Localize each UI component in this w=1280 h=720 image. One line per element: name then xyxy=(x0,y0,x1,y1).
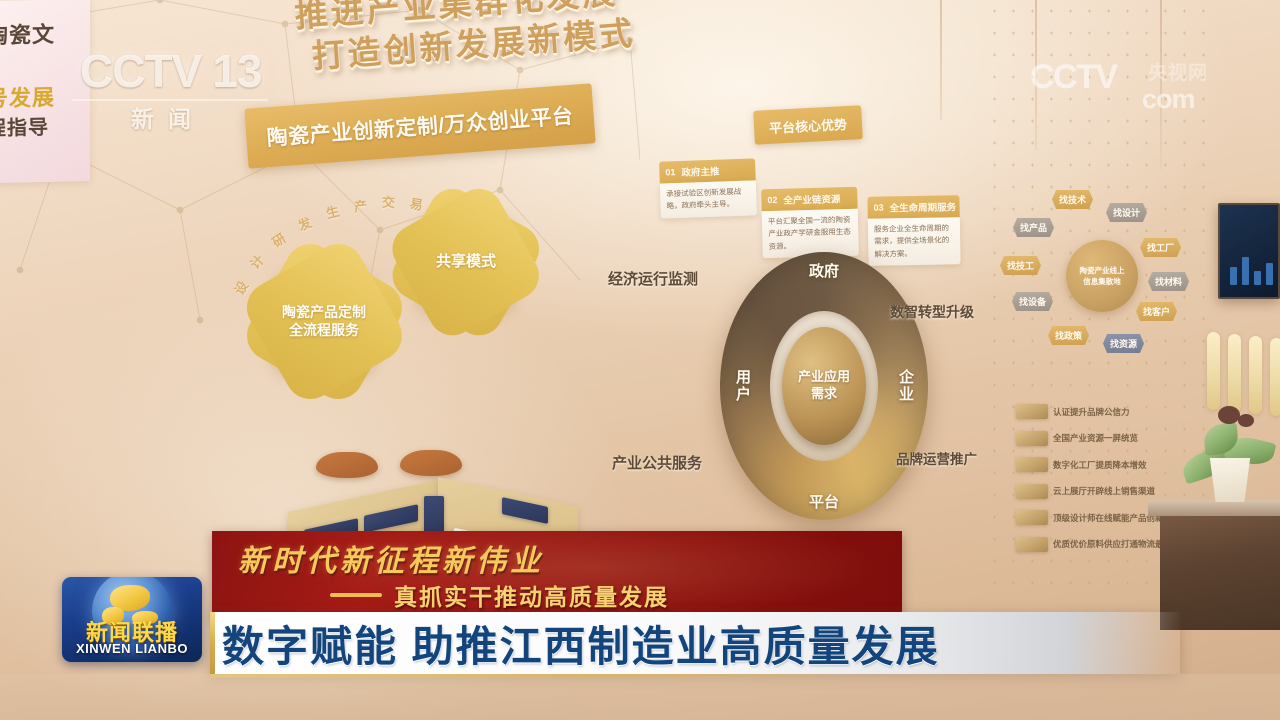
wall-seam xyxy=(940,0,942,120)
series-subtitle: 真抓实干推动高质量发展 xyxy=(394,578,669,612)
benefit-label: 数字化工厂提质降本增效 xyxy=(1053,459,1147,471)
advantage-card-1-body: 承接试验区创新发展战略，政府牵头主导。 xyxy=(660,180,757,218)
benefit-list-item: 认证提升品牌公信力 xyxy=(1016,404,1216,419)
gear-label-1: 陶瓷产品定制全流程服务 xyxy=(282,303,366,339)
wall-headline-banner-label: 陶瓷产业创新定制/万众创业平台 xyxy=(266,100,575,152)
ring-outer-label-digital-transformation: 数智转型升级 xyxy=(890,302,974,322)
wall-light-strip xyxy=(1270,338,1280,416)
advantage-card-3-label: 全生命周期服务 xyxy=(889,199,956,214)
monitor-chart-bar xyxy=(1242,257,1249,285)
series-title: 新时代新征程新伟业 xyxy=(238,536,538,576)
channel-number: 13 xyxy=(212,48,261,94)
advantage-card-1-label: 政府主推 xyxy=(681,164,719,179)
watermark-cctv: CCTV xyxy=(1030,60,1117,94)
advantage-card-1: 01 政府主推 承接试验区创新发展战略，政府牵头主导。 xyxy=(659,158,757,218)
cctv13-channel-logo: CCTV 13 新闻 xyxy=(80,47,256,135)
watermark-cn: 央视网 xyxy=(1148,58,1208,85)
gear-ceramic-customization: 陶瓷产品定制全流程服务 xyxy=(258,255,390,387)
benefit-label: 顶级设计师在线赋能产品创新 xyxy=(1053,512,1164,524)
wall-light-strip xyxy=(1249,336,1262,414)
benefit-chip-icon xyxy=(1016,457,1048,472)
benefit-chip-icon xyxy=(1016,510,1048,525)
xinwen-lianbo-logo: 新闻联播 XINWEN LIANBO xyxy=(62,577,202,662)
advantage-card-2: 02 全产业链资源 平台汇聚全国一流的陶瓷产业政产学研金服用生态资源。 xyxy=(761,187,859,259)
wall-light-strip xyxy=(1207,332,1220,410)
subtitle-dash-rule xyxy=(330,593,382,597)
monitor-chart-bar xyxy=(1266,263,1273,285)
gear-sharing-model: 共享模式 xyxy=(404,200,528,324)
headline-bar-gold-edge xyxy=(210,612,215,674)
benefit-chip-icon xyxy=(1016,431,1048,446)
hex-tag-find-customer: 找客户 xyxy=(1136,302,1177,321)
ring-outer-label-public-service: 产业公共服务 xyxy=(612,452,702,473)
ring-label-platform: 平台 xyxy=(809,491,839,512)
ring-label-government: 政府 xyxy=(809,260,839,281)
cloud-shape-icon xyxy=(316,452,378,478)
poster-line-3: 程指导 xyxy=(0,116,90,141)
advantage-card-2-label: 全产业链资源 xyxy=(783,191,840,206)
hex-tag-find-equipment: 找设备 xyxy=(1012,292,1053,311)
benefit-list-item: 全国产业资源一屏统览 xyxy=(1016,431,1216,446)
frame-bottom-gradient xyxy=(0,674,1280,720)
hex-hub-line-1: 陶瓷产业线上 xyxy=(1080,265,1125,276)
benefit-chip-icon xyxy=(1016,484,1048,499)
wall-monitor xyxy=(1218,203,1280,299)
hex-tag-find-policy: 找政策 xyxy=(1048,326,1089,345)
benefit-list-item: 云上展厅开辟线上销售渠道 xyxy=(1016,484,1216,499)
advantage-card-2-number: 02 xyxy=(767,195,777,205)
benefit-label: 认证提升品牌公信力 xyxy=(1053,406,1130,418)
advantage-card-3-number: 03 xyxy=(874,203,884,213)
benefit-chip-icon xyxy=(1016,537,1048,552)
watermark-dotcom: com xyxy=(1142,84,1195,115)
hex-hub-line-2: 信息集散地 xyxy=(1083,276,1121,287)
gear-label-2: 共享模式 xyxy=(436,252,496,272)
hex-tag-find-technology: 找技术 xyxy=(1052,190,1093,209)
ring-outer-label-brand-promotion: 品牌运营推广 xyxy=(896,448,977,468)
video-frame: 陶瓷文 号发展 程指导 推进产业集群化发展 打造创新发展新模式 陶瓷产业创新定制… xyxy=(0,0,1280,720)
logo-underline xyxy=(72,99,268,101)
wall-light-strip xyxy=(1228,334,1241,412)
hex-tag-find-worker: 找技工 xyxy=(1000,256,1041,275)
cctv-wordmark: CCTV xyxy=(80,48,201,94)
ring-core: 产业应用 需求 xyxy=(782,327,865,445)
benefit-chip-icon xyxy=(1016,404,1048,419)
ring-label-user: 用户 xyxy=(732,369,753,403)
benefit-label: 全国产业资源一屏统览 xyxy=(1053,432,1138,444)
cctv-com-watermark: CCTV 央视网 com xyxy=(1030,60,1210,112)
ring-label-enterprise: 企业 xyxy=(895,369,916,403)
plant-bloom xyxy=(1238,414,1254,427)
advantage-card-2-body: 平台汇聚全国一流的陶瓷产业政产学研金服用生态资源。 xyxy=(762,209,859,259)
reception-desk-top xyxy=(1148,500,1280,516)
benefit-label: 云上展厅开辟线上销售渠道 xyxy=(1053,485,1155,497)
news-headline: 数字赋能 助推江西制造业高质量发展 xyxy=(222,618,940,668)
channel-name-cn: 新闻 xyxy=(80,100,256,134)
program-name-en: XINWEN LIANBO xyxy=(62,641,202,656)
advantages-title: 平台核心优势 xyxy=(753,105,863,145)
hex-cluster-hub: 陶瓷产业线上 信息集散地 xyxy=(1066,240,1138,312)
plant-bloom xyxy=(1218,406,1240,424)
ecosystem-ring-diagram: 产业应用 需求 政府 平台 用户 企业 xyxy=(720,252,928,520)
advantage-card-1-number: 01 xyxy=(665,167,675,177)
cloud-shape-icon xyxy=(400,450,462,476)
hex-tag-find-design: 找设计 xyxy=(1106,203,1147,222)
poster-line-1: 陶瓷文 xyxy=(0,21,90,48)
monitor-chart-bar xyxy=(1254,271,1261,285)
series-subtitle-row: 真抓实干推动高质量发展 xyxy=(330,578,669,612)
ring-outer-label-economic-monitoring: 经济运行监测 xyxy=(608,268,698,289)
ring-core-line-2: 需求 xyxy=(811,386,837,403)
hex-tag-find-product: 找产品 xyxy=(1013,218,1054,237)
ring-core-line-1: 产业应用 xyxy=(798,369,850,386)
monitor-chart-bar xyxy=(1230,267,1237,285)
left-wall-poster: 陶瓷文 号发展 程指导 xyxy=(0,0,90,183)
hex-tag-find-factory: 找工厂 xyxy=(1140,238,1181,257)
hex-tag-find-material: 找材料 xyxy=(1148,272,1189,291)
advantages-title-label: 平台核心优势 xyxy=(769,113,848,136)
hex-tag-find-resource: 找资源 xyxy=(1103,334,1144,353)
